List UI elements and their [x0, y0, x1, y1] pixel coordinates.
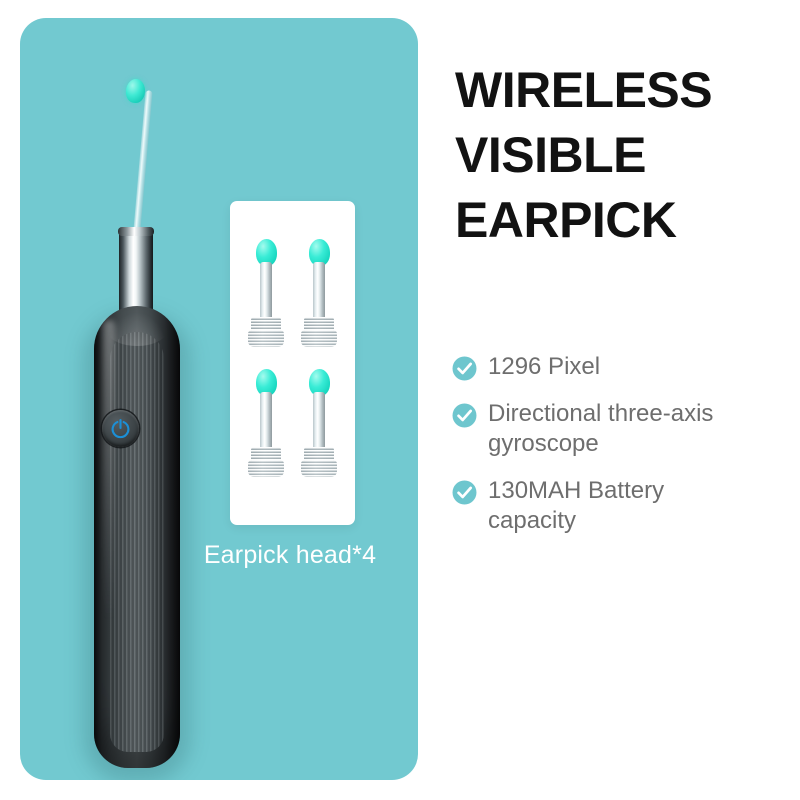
earpick-head-neck [260, 262, 272, 324]
feature-item-gyroscope: Directional three-axis gyroscope [452, 399, 792, 459]
earpick-head [298, 369, 340, 481]
earpick-head-base [248, 460, 284, 477]
chrome-collar [118, 227, 154, 236]
power-button[interactable] [102, 410, 139, 447]
headline-line-2: VISIBLE [455, 123, 785, 188]
check-circle-icon [452, 356, 477, 381]
marketing-content: WIRELESS VISIBLE EARPICK 1296 Pixel Dire… [452, 0, 792, 800]
earpick-device [77, 63, 197, 773]
power-icon [110, 418, 131, 439]
earpick-head-neck [313, 262, 325, 324]
probe-shaft [133, 90, 153, 235]
feature-label: 130MAH Battery capacity [488, 476, 750, 536]
headline-line-3: EARPICK [455, 188, 785, 253]
page-title: WIRELESS VISIBLE EARPICK [455, 58, 785, 253]
feature-item-pixel: 1296 Pixel [452, 352, 792, 382]
feature-item-battery: 130MAH Battery capacity [452, 476, 792, 536]
feature-label: Directional three-axis gyroscope [488, 399, 750, 459]
feature-label: 1296 Pixel [488, 352, 600, 382]
accessory-card [230, 201, 355, 525]
device-handle [94, 306, 180, 768]
check-circle-icon [452, 480, 477, 505]
earpick-head [245, 239, 287, 351]
earpick-head-base [301, 460, 337, 477]
silicone-tip-icon [125, 78, 146, 104]
feature-list: 1296 Pixel Directional three-axis gyrosc… [452, 352, 792, 553]
earpick-head-base [301, 330, 337, 347]
earpick-head [298, 239, 340, 351]
check-circle-icon [452, 403, 477, 428]
accessory-caption: Earpick head*4 [170, 540, 410, 570]
earpick-head-base [248, 330, 284, 347]
earpick-head-neck [313, 392, 325, 454]
headline-line-1: WIRELESS [455, 58, 785, 123]
earpick-head-grid [230, 201, 355, 525]
earpick-head-neck [260, 392, 272, 454]
earpick-head [245, 369, 287, 481]
handle-top-highlight [106, 312, 168, 346]
handle-highlight [103, 320, 115, 620]
handle-ridge-inlay [110, 332, 164, 752]
product-image-panel: Earpick head*4 [20, 18, 418, 780]
